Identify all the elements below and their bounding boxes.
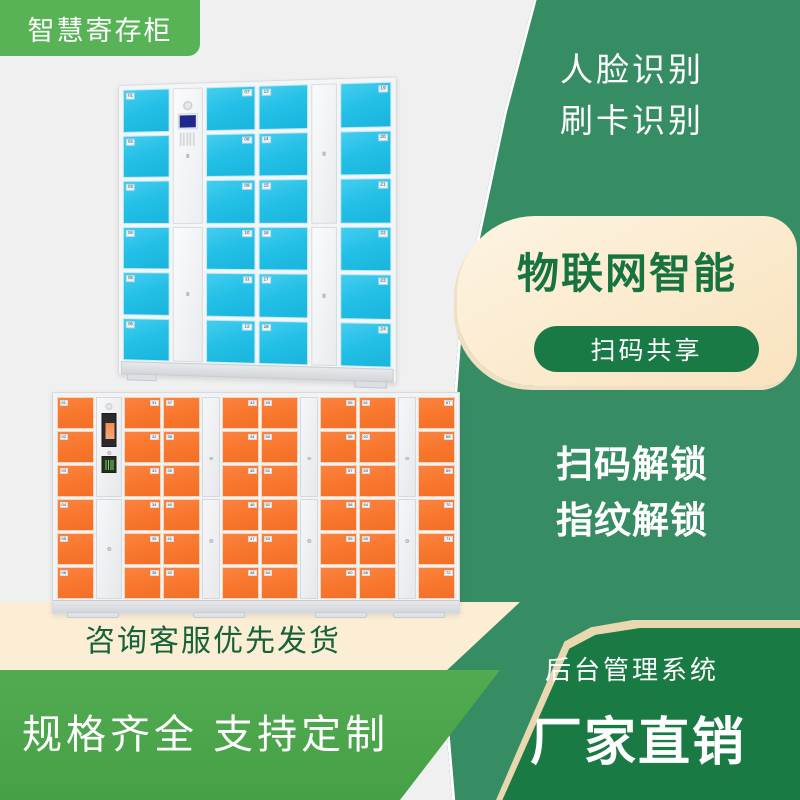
door-number: 05 — [60, 536, 68, 542]
locker-door[interactable]: 12 — [206, 319, 255, 364]
lock-icon — [405, 457, 409, 461]
door-number: 22 — [378, 229, 388, 236]
feature-face-recognition: 人脸识别 — [560, 44, 800, 95]
locker-door[interactable]: 57 — [320, 465, 357, 497]
orange-slim-column-1 — [202, 397, 220, 599]
door-number: 03 — [60, 468, 68, 474]
lock-icon — [322, 151, 325, 155]
orange-door-column-1: 01 02 03 04 05 06 — [57, 397, 94, 599]
locker-door[interactable]: 02 — [123, 134, 170, 178]
camera-icon — [106, 403, 113, 410]
camera-icon — [183, 101, 192, 110]
control-panel-upper[interactable] — [173, 87, 203, 223]
door-number: 13 — [261, 88, 271, 96]
slim-door-upper[interactable] — [202, 397, 220, 497]
door-number: 23 — [378, 278, 388, 286]
locker-door[interactable]: 61 — [359, 397, 396, 429]
door-number: 35 — [150, 536, 158, 542]
door-number: 52 — [264, 502, 272, 508]
service-notice-label: 咨询客服优先发货 — [85, 616, 341, 660]
door-number: 49 — [264, 400, 272, 406]
door-number: 58 — [346, 502, 354, 508]
feature-fingerprint-unlock: 指纹解锁 — [556, 493, 800, 549]
iot-card-title: 物联网智能 — [457, 240, 797, 301]
door-number: 32 — [150, 434, 158, 440]
blue-locker-foot-left — [127, 373, 157, 381]
locker-door[interactable]: 69 — [418, 465, 455, 497]
door-number: 11 — [243, 276, 252, 283]
locker-door[interactable]: 11 — [206, 273, 255, 317]
lock-icon — [307, 539, 311, 543]
door-number: 08 — [242, 136, 252, 143]
slim-door-upper[interactable] — [398, 397, 416, 497]
lock-icon — [322, 294, 325, 298]
locker-door[interactable]: 02 — [57, 431, 94, 463]
orange-slim-column-3 — [398, 397, 416, 599]
door-number: 42 — [166, 570, 174, 576]
locker-door[interactable]: 36 — [124, 567, 161, 599]
door-number: 03 — [126, 184, 135, 191]
locker-door[interactable]: 06 — [123, 318, 170, 362]
locker-image-orange: 01 02 03 04 05 06 — [52, 392, 460, 614]
door-number: 34 — [150, 502, 158, 508]
door-number: 06 — [126, 321, 135, 328]
locker-door[interactable]: 51 — [261, 465, 298, 497]
locker-door[interactable]: 42 — [163, 567, 200, 599]
locker-door[interactable]: 19 — [340, 82, 391, 128]
door-number: 63 — [362, 468, 370, 474]
control-panel-lower[interactable] — [173, 226, 203, 362]
locker-door[interactable]: 38 — [163, 431, 200, 463]
orange-locker-cabinet: 01 02 03 04 05 06 — [52, 392, 460, 614]
orange-control-column — [96, 397, 122, 599]
locker-door[interactable]: 52 — [261, 499, 298, 531]
feature-card-recognition: 刷卡识别 — [560, 95, 800, 146]
locker-door[interactable]: 59 — [320, 533, 357, 565]
locker-door[interactable]: 41 — [163, 533, 200, 565]
locker-door[interactable]: 47 — [222, 533, 259, 565]
locker-door[interactable]: 43 — [222, 397, 259, 429]
display-screen[interactable] — [102, 413, 117, 447]
blue-locker-cabinet: 01 02 03 04 05 06 — [118, 76, 397, 383]
door-number: 54 — [264, 570, 272, 576]
locker-door[interactable]: 35 — [124, 533, 161, 565]
display-screen[interactable] — [179, 114, 197, 129]
door-number: 44 — [248, 434, 256, 440]
locker-door[interactable]: 09 — [206, 180, 255, 224]
orange-locker-foot-4 — [393, 612, 445, 618]
locker-door[interactable]: 04 — [57, 499, 94, 531]
door-number: 10 — [242, 229, 252, 236]
door-number: 02 — [126, 138, 135, 145]
door-number: 04 — [60, 502, 68, 508]
door-number: 70 — [444, 502, 452, 508]
slim-door-lower[interactable] — [398, 499, 416, 599]
locker-door[interactable]: 54 — [261, 567, 298, 599]
door-number: 51 — [264, 468, 272, 474]
product-title-label: 智慧寄存柜 — [28, 9, 173, 48]
locker-door[interactable]: 24 — [340, 322, 391, 368]
locker-door[interactable]: 31 — [124, 397, 161, 429]
locker-door[interactable]: 63 — [359, 465, 396, 497]
customization-label: 规格齐全 支持定制 — [22, 702, 389, 760]
blue-door-column-3: 13 14 15 16 17 18 — [258, 84, 308, 365]
locker-door[interactable]: 05 — [123, 272, 170, 315]
control-panel-lower[interactable] — [96, 499, 122, 599]
locker-door[interactable]: 23 — [340, 274, 391, 319]
door-number: 36 — [150, 570, 158, 576]
keypad-icon[interactable] — [180, 133, 196, 147]
door-number: 41 — [166, 536, 174, 542]
orange-door-column-5: 49 50 51 52 53 54 — [261, 397, 298, 599]
orange-slim-column-2 — [300, 397, 318, 599]
locker-door[interactable]: 68 — [418, 431, 455, 463]
door-number: 24 — [378, 326, 388, 334]
door-number: 43 — [248, 400, 256, 406]
lock-icon — [107, 451, 111, 455]
feature-list-recognition: 人脸识别 刷卡识别 — [560, 44, 800, 146]
door-number: 57 — [346, 468, 354, 474]
door-number: 21 — [378, 181, 388, 188]
locker-door[interactable]: 16 — [258, 226, 308, 270]
door-number: 65 — [362, 536, 370, 542]
door-number: 60 — [346, 570, 354, 576]
locker-door[interactable]: 53 — [261, 533, 298, 565]
door-number: 02 — [60, 434, 68, 440]
door-number: 01 — [60, 400, 68, 406]
door-number: 69 — [444, 468, 452, 474]
locker-door[interactable]: 55 — [320, 397, 357, 429]
door-number: 48 — [248, 570, 256, 576]
locker-door[interactable]: 60 — [320, 567, 357, 599]
door-number: 31 — [150, 400, 158, 406]
door-number: 47 — [248, 536, 256, 542]
locker-door[interactable]: 66 — [359, 567, 396, 599]
locker-door[interactable]: 40 — [163, 499, 200, 531]
lock-icon — [405, 539, 409, 543]
blank-door-upper[interactable] — [311, 83, 337, 223]
locker-door[interactable]: 70 — [418, 499, 455, 531]
slim-door-lower[interactable] — [202, 499, 220, 599]
locker-door[interactable]: 01 — [123, 88, 170, 132]
orange-locker-foot-3 — [315, 612, 367, 618]
door-number: 04 — [126, 229, 135, 236]
lock-icon — [107, 547, 111, 551]
door-number: 50 — [264, 434, 272, 440]
door-number: 37 — [166, 400, 174, 406]
door-number: 05 — [126, 275, 135, 282]
blue-door-column-1: 01 02 03 04 05 06 — [123, 88, 170, 361]
orange-door-column-6: 55 56 57 58 59 60 — [320, 397, 357, 599]
locker-door[interactable]: 20 — [340, 130, 391, 176]
door-number: 33 — [150, 468, 158, 474]
locker-door[interactable]: 67 — [418, 397, 455, 429]
lock-icon — [307, 457, 311, 461]
locker-door[interactable]: 48 — [222, 567, 259, 599]
door-number: 55 — [346, 400, 354, 406]
control-panel-upper[interactable] — [96, 397, 122, 497]
door-number: 01 — [126, 92, 135, 99]
scan-share-pill[interactable]: 扫码共享 — [534, 326, 759, 372]
door-number: 17 — [261, 276, 271, 283]
locker-door[interactable]: 50 — [261, 431, 298, 463]
locker-door[interactable]: 01 — [57, 397, 94, 429]
door-number: 15 — [261, 182, 271, 189]
locker-door[interactable]: 62 — [359, 431, 396, 463]
scan-share-label: 扫码共享 — [590, 331, 702, 367]
feature-qr-unlock: 扫码解锁 — [556, 437, 800, 493]
lock-icon — [209, 457, 213, 461]
door-number: 67 — [444, 400, 452, 406]
locker-door[interactable]: 13 — [258, 84, 308, 129]
orange-door-column-4: 43 44 45 46 47 48 — [222, 397, 259, 599]
door-number: 07 — [242, 89, 252, 96]
blue-door-column-4: 19 20 21 22 23 24 — [340, 82, 391, 368]
door-number: 19 — [378, 85, 388, 93]
orange-locker-foot-1 — [67, 612, 119, 618]
customization-band: 规格齐全 支持定制 — [0, 670, 500, 800]
product-title-banner: 智慧寄存柜 — [0, 0, 200, 56]
locker-door[interactable]: 06 — [57, 567, 94, 599]
door-number: 39 — [166, 468, 174, 474]
locker-door[interactable]: 49 — [261, 397, 298, 429]
locker-door[interactable]: 21 — [340, 178, 391, 223]
orange-door-column-2: 31 32 33 34 35 36 — [124, 397, 161, 599]
door-number: 38 — [166, 434, 174, 440]
feature-list-unlock: 扫码解锁 指纹解锁 — [556, 437, 800, 548]
slim-door-upper[interactable] — [300, 397, 318, 497]
door-number: 18 — [261, 323, 271, 330]
locker-door[interactable]: 04 — [123, 226, 170, 269]
door-number: 62 — [362, 434, 370, 440]
blue-door-column-2: 07 08 09 10 11 12 — [206, 86, 255, 364]
door-number: 68 — [444, 434, 452, 440]
door-number: 53 — [264, 536, 272, 542]
orange-door-column-7: 61 62 63 64 65 66 — [359, 397, 396, 599]
blue-locker-foot-right — [354, 380, 387, 388]
locker-door[interactable]: 72 — [418, 567, 455, 599]
door-number: 64 — [362, 502, 370, 508]
locker-door[interactable]: 64 — [359, 499, 396, 531]
door-number: 09 — [242, 183, 252, 190]
iot-highlight-card: 物联网智能 扫码共享 — [457, 216, 797, 386]
locker-door[interactable]: 18 — [258, 320, 308, 365]
orange-door-column-3: 37 38 39 40 41 42 — [163, 397, 200, 599]
door-number: 20 — [378, 133, 388, 141]
backend-system-label: 后台管理系统 — [545, 650, 800, 687]
door-number: 45 — [248, 468, 256, 474]
blank-door-lower[interactable] — [311, 226, 337, 366]
locker-door[interactable]: 58 — [320, 499, 357, 531]
door-number: 40 — [166, 502, 174, 508]
locker-door[interactable]: 10 — [206, 226, 255, 270]
door-number: 71 — [444, 536, 452, 542]
door-number: 06 — [60, 570, 68, 576]
locker-door[interactable]: 32 — [124, 431, 161, 463]
qr-scanner-icon[interactable] — [102, 456, 117, 473]
factory-direct-headline: 厂家直销 — [530, 700, 800, 775]
locker-door[interactable]: 22 — [340, 226, 391, 271]
locker-door[interactable]: 15 — [258, 179, 308, 223]
locker-door[interactable]: 44 — [222, 431, 259, 463]
promo-poster: 智慧寄存柜 人脸识别 刷卡识别 物联网智能 扫码共享 扫码解锁 指纹解锁 后台管… — [0, 0, 800, 800]
blue-locker-columns: 01 02 03 04 05 06 — [123, 82, 391, 368]
door-number: 61 — [362, 400, 370, 406]
lock-icon — [186, 154, 189, 158]
locker-door[interactable]: 56 — [320, 431, 357, 463]
orange-door-column-8: 67 68 69 70 71 72 — [418, 397, 455, 599]
locker-door[interactable]: 39 — [163, 465, 200, 497]
locker-door[interactable]: 45 — [222, 465, 259, 497]
lock-icon — [186, 292, 189, 296]
locker-door[interactable]: 71 — [418, 533, 455, 565]
locker-image-blue: 01 02 03 04 05 06 — [118, 76, 397, 383]
door-number: 59 — [346, 536, 354, 542]
locker-door[interactable]: 05 — [57, 533, 94, 565]
door-number: 66 — [362, 570, 370, 576]
slim-door-lower[interactable] — [300, 499, 318, 599]
locker-door[interactable]: 17 — [258, 273, 308, 318]
blue-control-column — [173, 87, 203, 362]
orange-locker-foot-2 — [193, 612, 245, 618]
lock-icon — [209, 539, 213, 543]
locker-door[interactable]: 07 — [206, 86, 255, 131]
locker-door[interactable]: 03 — [123, 180, 170, 223]
locker-door[interactable]: 33 — [124, 465, 161, 497]
locker-door[interactable]: 03 — [57, 465, 94, 497]
door-number: 46 — [248, 502, 256, 508]
locker-door[interactable]: 46 — [222, 499, 259, 531]
door-number: 56 — [346, 434, 354, 440]
door-number: 16 — [261, 229, 271, 236]
blue-blank-column — [311, 83, 337, 366]
orange-locker-columns: 01 02 03 04 05 06 — [57, 397, 455, 599]
locker-door[interactable]: 37 — [163, 397, 200, 429]
locker-door[interactable]: 08 — [206, 133, 255, 177]
locker-door[interactable]: 34 — [124, 499, 161, 531]
door-number: 14 — [261, 135, 271, 142]
door-number: 12 — [242, 323, 252, 330]
locker-door[interactable]: 65 — [359, 533, 396, 565]
door-number: 72 — [444, 570, 452, 576]
locker-door[interactable]: 14 — [258, 132, 308, 177]
